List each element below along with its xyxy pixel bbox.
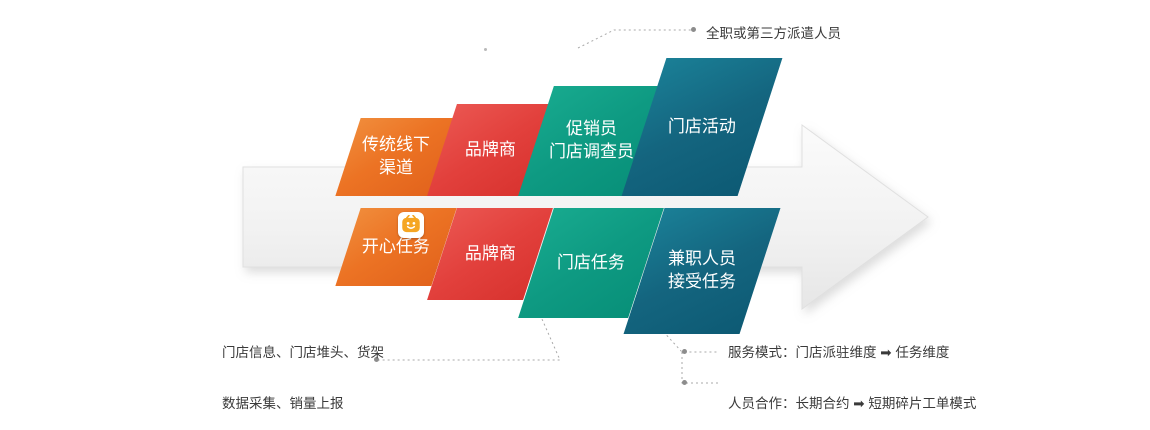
tile-label: 促销员 门店调查员 [549,118,634,164]
tile-label: 兼职人员 接受任务 [668,248,736,294]
tile-store-activity[interactable]: 门店活动 [622,58,783,196]
smile-box-glyph [401,215,421,235]
decor-dot [484,48,487,51]
tile-label: 门店任务 [557,252,625,275]
tile-label: 开心任务 [362,236,430,259]
annotation-dot-service-model [682,349,687,354]
tile-label: 品牌商 [465,139,516,162]
tile-label: 传统线下 渠道 [362,134,430,180]
diagram-canvas: 传统线下 渠道 品牌商 促销员 门店调查员 门店活动 开心任务 品牌商 门店任务… [0,0,1150,430]
annotation-service-model: 服务模式：门店派驻维度 ➡ 任务维度 人员合作：长期合约 ➡ 短期碎片工单模式 [728,340,1128,417]
annotation-data-collection: 门店信息、门店堆头、货架 数据采集、销量上报 [222,340,522,417]
connector-service-model [660,328,718,383]
connector-staffing [578,30,694,48]
tile-label: 品牌商 [465,243,516,266]
annotation-dot-staffing [691,27,696,32]
annotation-dot-cooperation [682,380,687,385]
smile-box-icon [398,212,424,238]
annotation-staffing: 全职或第三方派遣人员 [706,21,1006,47]
tile-label: 门店活动 [668,116,736,139]
